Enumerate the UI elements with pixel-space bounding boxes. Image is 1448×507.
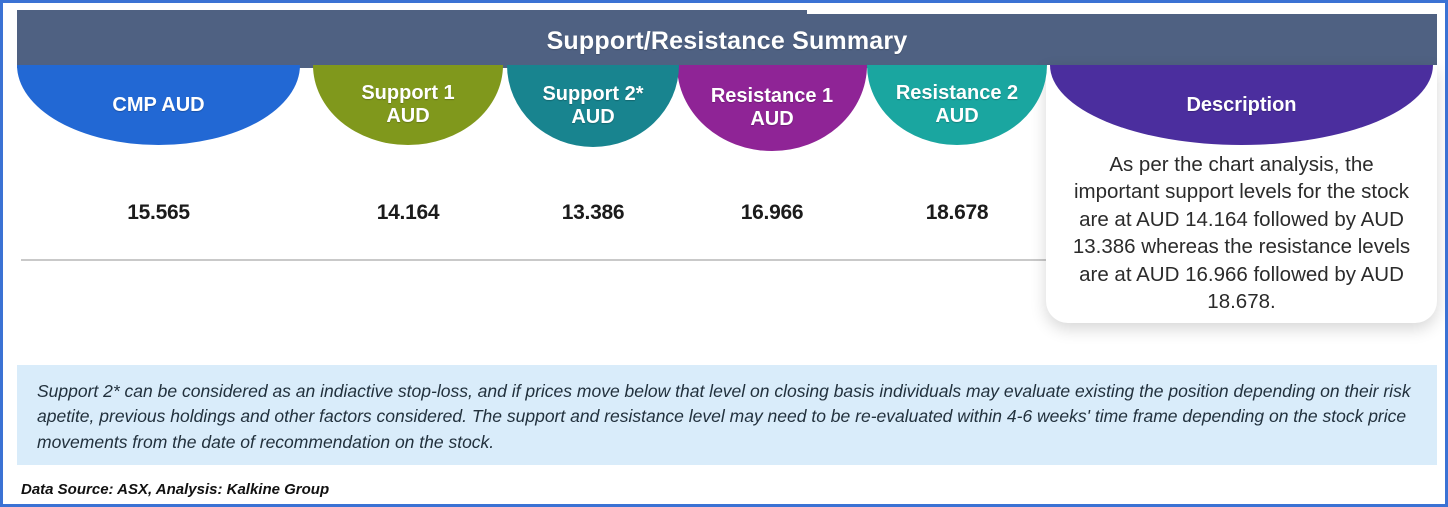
- value-support-2: 13.386: [507, 193, 679, 233]
- column-header-label: Resistance 2AUD: [896, 82, 1018, 128]
- description-body-text: As per the chart analysis, the important…: [1064, 151, 1419, 316]
- disclaimer-box: Support 2* can be considered as an india…: [17, 365, 1437, 465]
- column-header-resistance-2: Resistance 2AUD: [867, 65, 1047, 145]
- disclaimer-text: Support 2* can be considered as an india…: [37, 379, 1417, 455]
- column-header-cmp-aud: CMP AUD: [17, 65, 300, 145]
- value-support-1: 14.164: [313, 193, 503, 233]
- value-resistance-2: 18.678: [867, 193, 1047, 233]
- support-resistance-summary-panel: Support/Resistance Summary CMP AUDSuppor…: [0, 0, 1448, 507]
- description-header-label: Description: [1186, 94, 1296, 117]
- values-divider: [21, 259, 1046, 261]
- value-cmp-aud: 15.565: [17, 193, 300, 233]
- column-header-label: Support 1AUD: [361, 82, 454, 128]
- column-header-resistance-1: Resistance 1AUD: [677, 65, 867, 151]
- description-column-header: Description: [1050, 65, 1433, 145]
- value-resistance-1: 16.966: [677, 193, 867, 233]
- column-header-support-1: Support 1AUD: [313, 65, 503, 145]
- panel-title-bar: Support/Resistance Summary: [17, 14, 1437, 68]
- column-header-label: CMP AUD: [112, 94, 204, 117]
- data-source-footer: Data Source: ASX, Analysis: Kalkine Grou…: [21, 481, 329, 498]
- column-header-support-2: Support 2*AUD: [507, 65, 679, 147]
- column-header-label: Resistance 1AUD: [711, 85, 833, 131]
- description-card: Description As per the chart analysis, t…: [1046, 65, 1437, 323]
- column-header-label: Support 2*AUD: [542, 83, 643, 129]
- page-title: Support/Resistance Summary: [547, 27, 908, 56]
